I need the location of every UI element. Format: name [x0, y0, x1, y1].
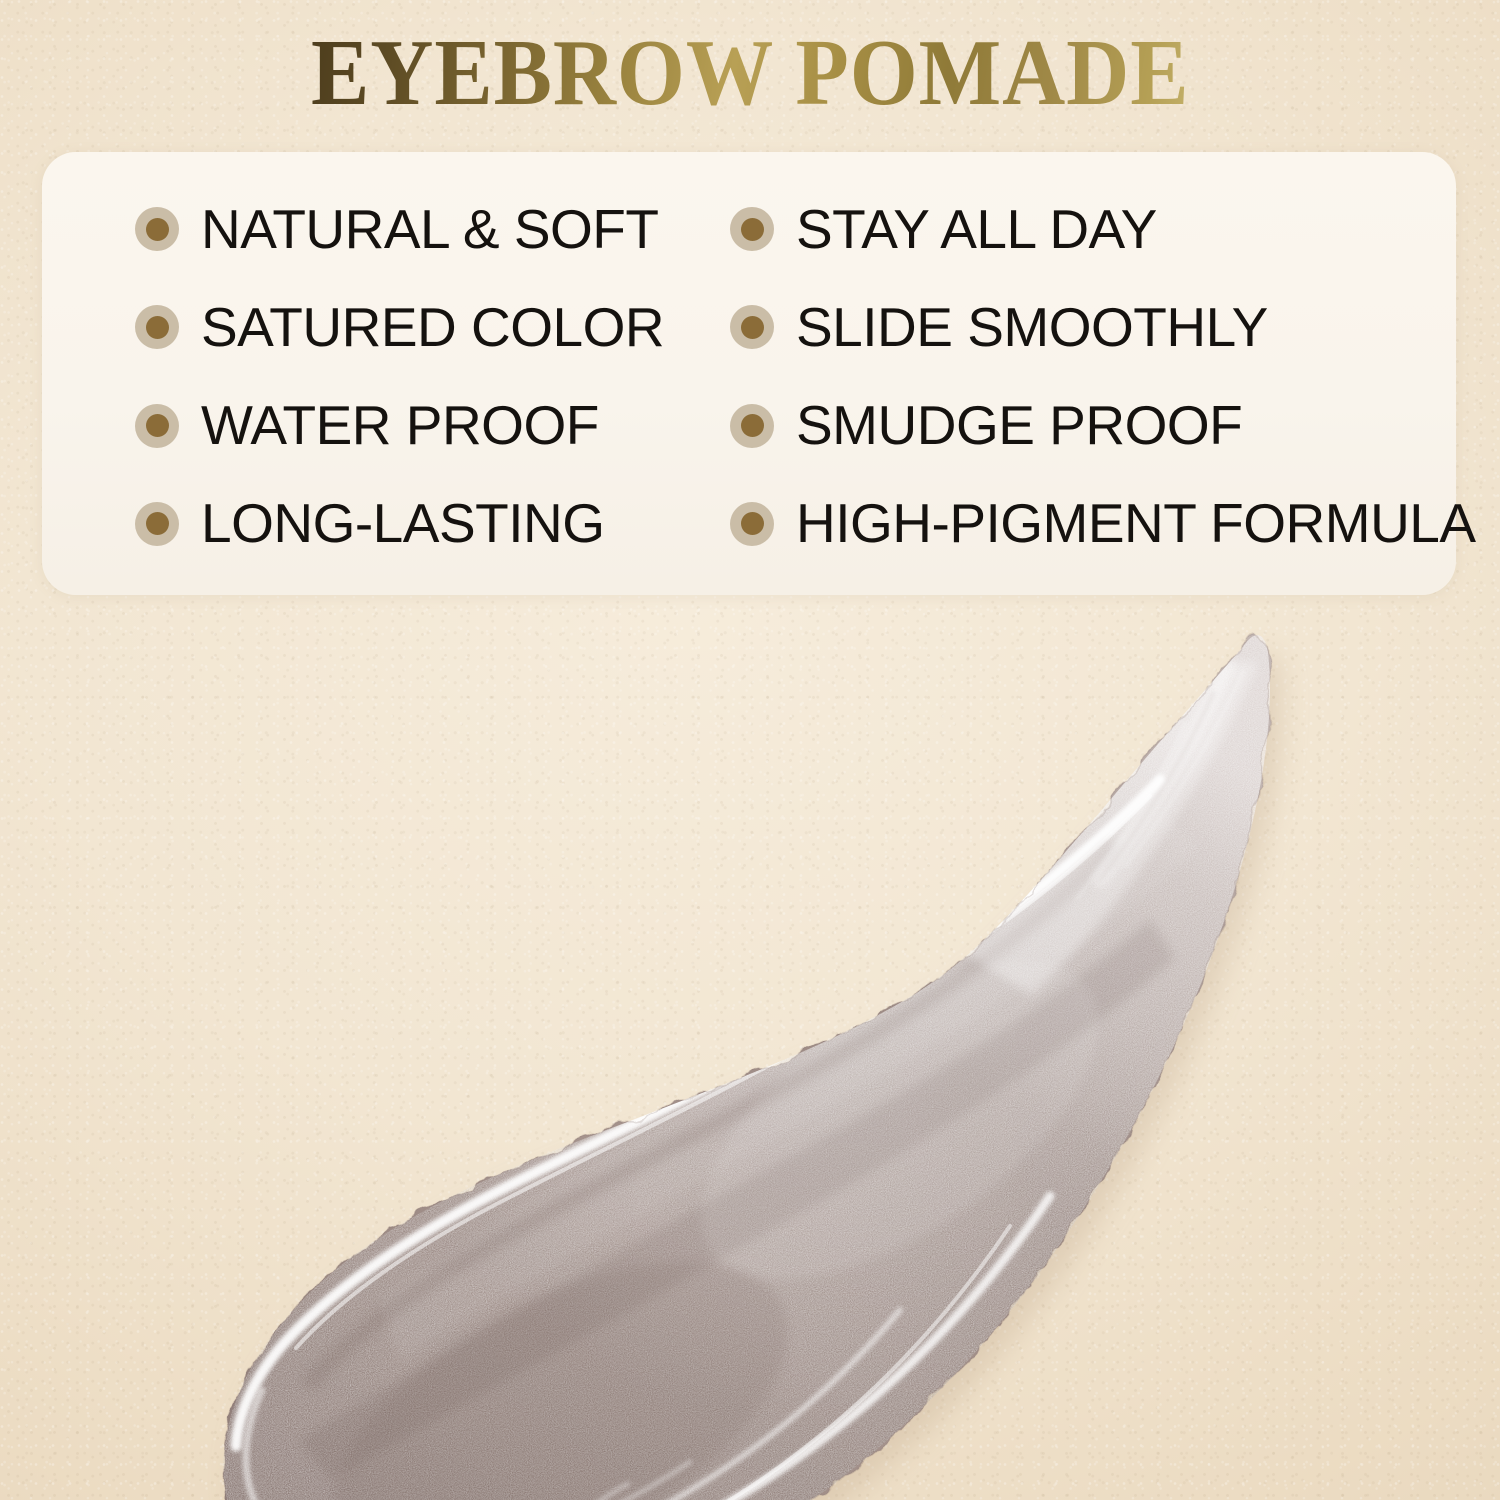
bullet-dot-icon: [730, 207, 774, 251]
bullet-dot-icon: [730, 404, 774, 448]
feature-item-slide-smoothly: SLIDE SMOOTHLY: [730, 278, 1476, 376]
feature-item-long-lasting: LONG-LASTING: [42, 475, 730, 573]
feature-label: SLIDE SMOOTHLY: [796, 300, 1268, 355]
feature-list: NATURAL & SOFT STAY ALL DAY SATURED COLO…: [42, 152, 1456, 595]
feature-label: SATURED COLOR: [201, 300, 664, 355]
bullet-dot-icon: [135, 502, 179, 546]
feature-label: LONG-LASTING: [201, 496, 605, 551]
feature-item-water-proof: WATER PROOF: [42, 377, 730, 475]
title-container: EYEBROW POMADE: [0, 26, 1500, 120]
bullet-dot-icon: [730, 502, 774, 546]
feature-card: NATURAL & SOFT STAY ALL DAY SATURED COLO…: [42, 152, 1456, 595]
pomade-smear-image: [0, 600, 1500, 1500]
feature-label: STAY ALL DAY: [796, 202, 1157, 257]
feature-item-satured-color: SATURED COLOR: [42, 278, 730, 376]
product-swatch-area: [0, 600, 1500, 1500]
bullet-dot-icon: [135, 305, 179, 349]
bullet-dot-icon: [135, 404, 179, 448]
feature-label: SMUDGE PROOF: [796, 398, 1242, 453]
feature-label: WATER PROOF: [201, 398, 599, 453]
feature-label: HIGH-PIGMENT FORMULA: [796, 496, 1476, 551]
page-title: EYEBROW POMADE: [311, 26, 1189, 120]
bullet-dot-icon: [135, 207, 179, 251]
bullet-dot-icon: [730, 305, 774, 349]
feature-item-smudge-proof: SMUDGE PROOF: [730, 377, 1476, 475]
feature-item-stay-all-day: STAY ALL DAY: [730, 180, 1476, 278]
feature-label: NATURAL & SOFT: [201, 202, 659, 257]
feature-item-high-pigment-formula: HIGH-PIGMENT FORMULA: [730, 475, 1476, 573]
feature-item-natural-soft: NATURAL & SOFT: [42, 180, 730, 278]
